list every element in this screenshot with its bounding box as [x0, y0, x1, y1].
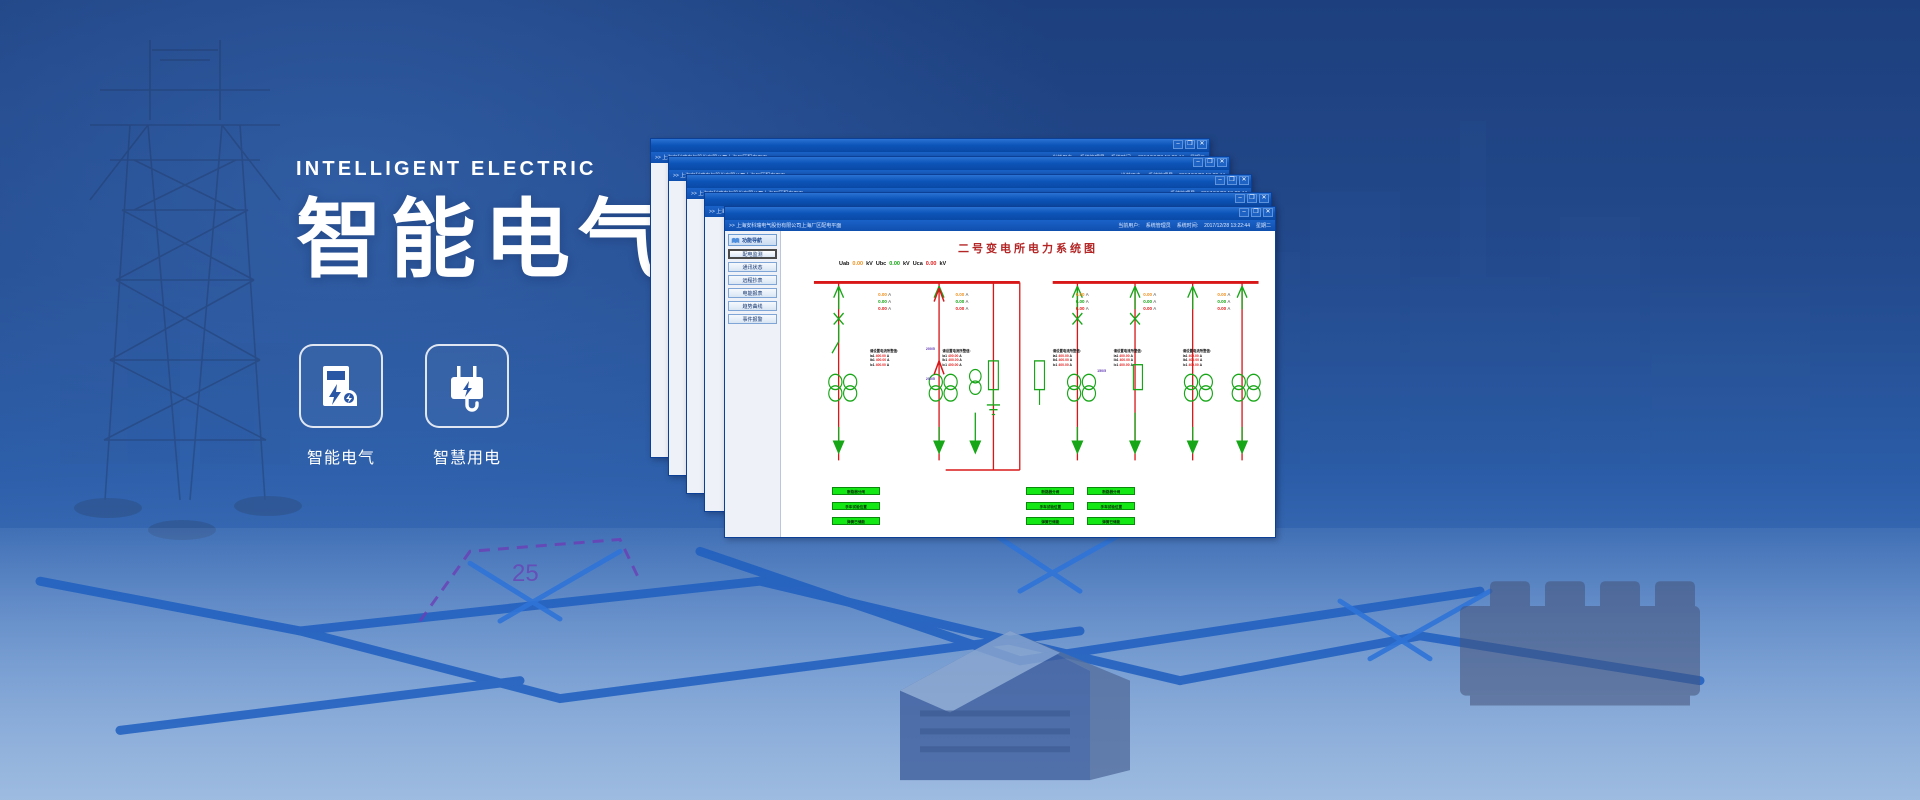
sidebar-item-power-monitoring[interactable]: 配电监测	[728, 249, 777, 259]
single-line-diagram: 0.00 A0.00 A0.00 A0.00 A0.00 A0.00 A0.00…	[781, 269, 1275, 537]
current-row: 0.00 A	[1217, 298, 1230, 305]
feature-list: 智能电气 智慧用电	[299, 344, 509, 468]
power-plug-icon	[441, 360, 493, 412]
current-row: 0.00 A	[956, 305, 969, 312]
voltage-value: 0.00	[852, 261, 863, 267]
current-row: 0.00 A	[1143, 298, 1156, 305]
nav-item-label: 配电监测	[742, 251, 762, 258]
current-readout-group: 0.00 A0.00 A0.00 A	[1143, 291, 1156, 312]
protection-row: Ic1 400.00 A	[1183, 363, 1211, 368]
voltage-name: Uca	[913, 261, 923, 267]
close-button[interactable]: ✕	[1259, 194, 1269, 203]
voltage-unit: kV	[866, 261, 873, 267]
charging-post-icon	[315, 360, 367, 412]
voltage-name: Uab	[839, 261, 849, 267]
minimize-button[interactable]: –	[1239, 208, 1249, 217]
nav-item-label: 事件报警	[742, 316, 762, 323]
window-controls[interactable]: – ❐ ✕	[1215, 176, 1249, 185]
sidebar-item-energy-report[interactable]: 电能报表	[728, 288, 777, 298]
nav-item-label: 通讯状态	[742, 264, 762, 271]
hero-banner: 25 INTELLIGENT ELECTRIC 智能电气	[0, 0, 1920, 800]
busbar-voltage-readout: Uab 0.00 kV Ubc 0.00 kV Uca 0.00 kV	[781, 261, 1275, 267]
maximize-button[interactable]: ❐	[1247, 194, 1257, 203]
ct-ratio-label: 150/5	[1097, 369, 1106, 373]
window-title-bar[interactable]: – ❐ ✕	[669, 157, 1229, 170]
current-row: 0.00 A	[1143, 305, 1156, 312]
current-row: 0.00 A	[1076, 298, 1089, 305]
nav-header: 功能导航	[728, 234, 777, 246]
voltage-unit: kV	[940, 261, 947, 267]
protection-row: Ic1 400.00 A	[870, 363, 898, 368]
status-badge[interactable]: 手车试验位置	[832, 502, 880, 510]
feature-icon-box	[299, 344, 383, 428]
protection-setting-block: 请设置电流所整值:Ia1 400.00 AIb1 400.00 AIc1 400…	[1183, 349, 1211, 367]
current-user-label: 当前用户:	[1118, 222, 1139, 229]
window-controls[interactable]: – ❐ ✕	[1235, 194, 1269, 203]
protection-setting-block: 请设置电流所整值:Ia1 400.00 AIb1 400.00 AIc1 400…	[942, 349, 970, 367]
status-badge[interactable]: 断路器分闸	[1026, 487, 1074, 495]
nav-item-label: 电能报表	[742, 290, 762, 297]
window-title-bar[interactable]: – ❐ ✕	[687, 175, 1251, 188]
window-title-bar[interactable]: – ❐ ✕	[705, 193, 1271, 206]
status-badge[interactable]: 弹簧已储能	[1087, 517, 1135, 525]
current-readout-group: 0.00 A0.00 A0.00 A	[878, 291, 891, 312]
minimize-button[interactable]: –	[1173, 140, 1183, 149]
feature-icon-box	[425, 344, 509, 428]
diagram-title: 二号变电所电力系统图	[781, 240, 1275, 256]
sidebar-item-remote-meter-reading[interactable]: 远程抄表	[728, 275, 777, 285]
window-controls[interactable]: – ❐ ✕	[1193, 158, 1227, 167]
current-row: 0.00 A	[1076, 305, 1089, 312]
feature-label: 智能电气	[307, 444, 375, 468]
window-controls[interactable]: – ❐ ✕	[1239, 208, 1273, 217]
sld-schematic	[781, 269, 1275, 537]
sidebar-item-trend-curve[interactable]: 趋势曲线	[728, 301, 777, 311]
status-badge[interactable]: 手车试验位置	[1026, 502, 1074, 510]
minimize-button[interactable]: –	[1235, 194, 1245, 203]
window-body: 功能导航 配电监测 通讯状态 远程抄表 电能报表 趋势曲线	[725, 231, 1275, 537]
current-readout-group: 0.00 A0.00 A0.00 A	[956, 291, 969, 312]
active-scada-window[interactable]: – ❐ ✕ >> 上海安科瑞电气股份有限公司上海厂区配电平面 当前用户: 系统管…	[724, 206, 1276, 538]
feature-item-smart-power[interactable]: 智慧用电	[425, 344, 509, 468]
maximize-button[interactable]: ❐	[1185, 140, 1195, 149]
current-readout-group: 0.00 A0.00 A0.00 A	[1217, 291, 1230, 312]
minimize-button[interactable]: –	[1193, 158, 1203, 167]
nav-header-label: 功能导航	[742, 237, 762, 244]
current-row: 0.00 A	[878, 298, 891, 305]
sidebar-item-event-alarm[interactable]: 事件报警	[728, 314, 777, 324]
maximize-button[interactable]: ❐	[1227, 176, 1237, 185]
status-badge[interactable]: 弹簧已储能	[1026, 517, 1074, 525]
close-button[interactable]: ✕	[1239, 176, 1249, 185]
sidebar-item-comm-status[interactable]: 通讯状态	[728, 262, 777, 272]
window-title-bar[interactable]: – ❐ ✕	[651, 139, 1209, 152]
feature-item-intelligent-electric[interactable]: 智能电气	[299, 344, 383, 468]
current-row: 0.00 A	[1217, 305, 1230, 312]
current-row: 0.00 A	[878, 305, 891, 312]
titlebar-path: >> 上海安科瑞电气股份有限公司上海厂区配电平面	[729, 222, 841, 229]
protection-row: Ic1 400.00 A	[942, 363, 970, 368]
voltage-value: 0.00	[926, 261, 937, 267]
weekday: 星期二	[1256, 222, 1271, 229]
scada-window-stack: – ❐ ✕ >> 上海安科瑞电气股份有限公司上海厂区配电平面 当前用户: 系统管…	[650, 138, 1290, 538]
protection-row: Ic1 400.00 A	[1114, 363, 1142, 368]
feature-label: 智慧用电	[433, 444, 501, 468]
status-badge[interactable]: 断路器分闸	[832, 487, 880, 495]
ct-ratio-label: 200/5	[926, 347, 935, 351]
voltage-unit: kV	[903, 261, 910, 267]
protection-setting-block: 请设置电流所整值:Ia1 400.00 AIb1 400.00 AIc1 400…	[1053, 349, 1081, 367]
status-badge[interactable]: 手车试验位置	[1087, 502, 1135, 510]
nav-item-label: 远程抄表	[742, 277, 762, 284]
system-time-label: 系统时间:	[1177, 222, 1198, 229]
window-subtitle-bar: >> 上海安科瑞电气股份有限公司上海厂区配电平面 当前用户: 系统管理员 系统时…	[725, 220, 1275, 231]
voltage-name: Ubc	[876, 261, 886, 267]
window-title-bar[interactable]: – ❐ ✕	[725, 207, 1275, 220]
window-controls[interactable]: – ❐ ✕	[1173, 140, 1207, 149]
current-row: 0.00 A	[1076, 291, 1089, 298]
current-readout-group: 0.00 A0.00 A0.00 A	[1076, 291, 1089, 312]
minimize-button[interactable]: –	[1215, 176, 1225, 185]
function-navigation-pane: 功能导航 配电监测 通讯状态 远程抄表 电能报表 趋势曲线	[725, 231, 781, 537]
protection-row: Ic1 400.00 A	[1053, 363, 1081, 368]
close-button[interactable]: ✕	[1197, 140, 1207, 149]
ct-ratio-label: 200/5	[926, 377, 935, 381]
svg-text:25: 25	[512, 560, 539, 587]
close-button[interactable]: ✕	[1217, 158, 1227, 167]
maximize-button[interactable]: ❐	[1205, 158, 1215, 167]
current-row: 0.00 A	[1217, 291, 1230, 298]
voltage-value: 0.00	[889, 261, 900, 267]
status-badge[interactable]: 断路器分闸	[1087, 487, 1135, 495]
current-row: 0.00 A	[1143, 291, 1156, 298]
close-button[interactable]: ✕	[1263, 208, 1273, 217]
book-icon	[731, 237, 740, 244]
nav-item-label: 趋势曲线	[742, 303, 762, 310]
status-badge[interactable]: 弹簧已储能	[832, 517, 880, 525]
current-row: 0.00 A	[956, 291, 969, 298]
protection-setting-block: 请设置电流所整值:Ia1 400.00 AIb1 400.00 AIc1 400…	[1114, 349, 1142, 367]
current-user: 系统管理员	[1146, 222, 1171, 229]
system-time: 2017/12/28 13:22:44	[1204, 223, 1250, 229]
single-line-diagram-panel: 二号变电所电力系统图 Uab 0.00 kV Ubc 0.00 kV Uca 0…	[781, 231, 1275, 537]
current-row: 0.00 A	[956, 298, 969, 305]
current-row: 0.00 A	[878, 291, 891, 298]
protection-setting-block: 请设置电流所整值:Ia1 400.00 AIb1 400.00 AIc1 400…	[870, 349, 898, 367]
maximize-button[interactable]: ❐	[1251, 208, 1261, 217]
